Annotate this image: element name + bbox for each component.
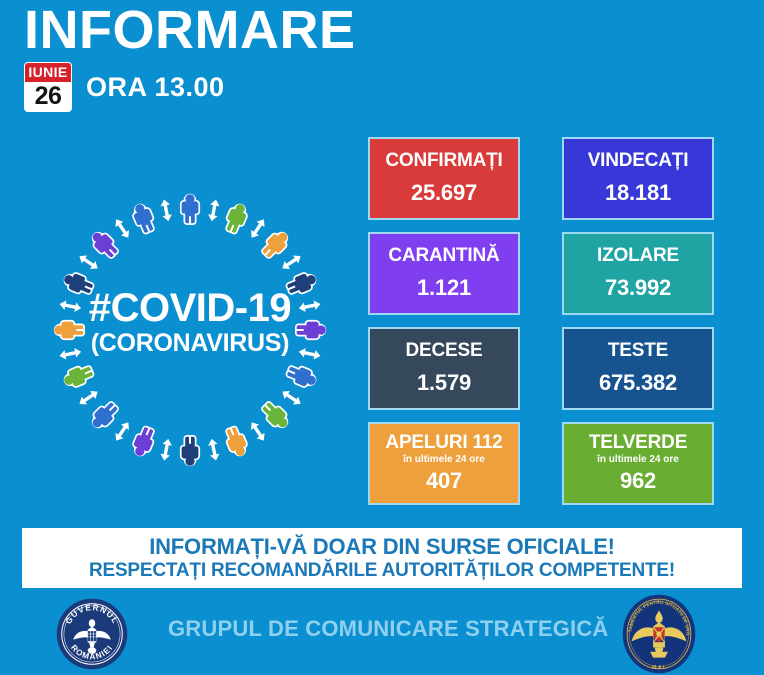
footer: GUVERNUL ROMÂNIEI DEPARTAMENTUL PENTRU S… xyxy=(0,592,764,675)
banner-line-2: RESPECTAȚI RECOMANDĂRILE AUTORITĂȚILOR C… xyxy=(89,560,675,582)
people-circle-svg xyxy=(20,160,360,500)
double-arrow-icon xyxy=(298,347,321,361)
person-icon xyxy=(260,400,292,432)
stat-card-carantina: CARANTINĂ1.121 xyxy=(368,232,520,315)
header: INFORMARE IUNIE 26 ORA 13.00 xyxy=(0,0,764,130)
stats-grid: CONFIRMAȚI25.697VINDECAȚI18.181CARANTINĂ… xyxy=(368,137,714,505)
stat-value: 675.382 xyxy=(599,370,677,396)
stat-sublabel: în ultimele 24 ore xyxy=(597,454,679,466)
stat-value: 407 xyxy=(426,468,462,494)
stat-card-confirmati: CONFIRMAȚI25.697 xyxy=(368,137,520,220)
official-sources-banner: INFORMAȚI-VĂ DOAR DIN SURSE OFICIALE! RE… xyxy=(22,528,742,588)
stat-card-decese: DECESE1.579 xyxy=(368,327,520,410)
person-icon xyxy=(88,228,120,260)
double-arrow-icon xyxy=(112,217,132,241)
seal-right-bottom-text: M.A.I. xyxy=(652,665,666,671)
stat-card-izolare: IZOLARE73.992 xyxy=(562,232,714,315)
stat-label: IZOLARE xyxy=(597,245,679,266)
double-arrow-icon xyxy=(280,388,304,408)
person-icon xyxy=(285,363,318,390)
double-arrow-icon xyxy=(207,438,221,461)
stat-card-vindecati: VINDECAȚI18.181 xyxy=(562,137,714,220)
person-icon xyxy=(285,270,318,297)
double-arrow-icon xyxy=(59,299,82,313)
double-arrow-icon xyxy=(280,252,304,272)
person-icon xyxy=(130,201,157,234)
person-icon xyxy=(223,201,250,234)
stat-card-apeluri-112: APELURI 112în ultimele 24 ore407 xyxy=(368,422,520,505)
stat-label: APELURI 112 xyxy=(385,432,502,453)
stat-value: 18.181 xyxy=(605,180,671,206)
double-arrow-icon xyxy=(298,299,321,313)
date-row: IUNIE 26 ORA 13.00 xyxy=(24,62,225,112)
double-arrow-icon xyxy=(59,347,82,361)
stat-card-teste: TESTE675.382 xyxy=(562,327,714,410)
guvernul-romaniei-seal-icon: GUVERNUL ROMÂNIEI xyxy=(56,598,128,670)
stat-value: 1.579 xyxy=(417,370,471,396)
stat-value: 1.121 xyxy=(417,275,471,301)
stat-value: 962 xyxy=(620,468,656,494)
double-arrow-icon xyxy=(112,420,132,444)
double-arrow-icon xyxy=(248,217,268,241)
stat-label: VINDECAȚI xyxy=(588,150,689,171)
double-arrow-icon xyxy=(77,252,101,272)
stat-label: CONFIRMAȚI xyxy=(385,150,502,171)
double-arrow-icon xyxy=(207,199,221,222)
stat-value: 25.697 xyxy=(411,180,477,206)
person-icon xyxy=(130,425,157,458)
footer-organization-label: GRUPUL DE COMUNICARE STRATEGICĂ xyxy=(168,616,609,642)
stat-value: 73.992 xyxy=(605,275,671,301)
people-circle-icon: #COVID-19 (CORONAVIRUS) xyxy=(20,160,360,500)
stat-card-telverde: TELVERDEîn ultimele 24 ore962 xyxy=(562,422,714,505)
person-icon xyxy=(61,363,94,390)
calendar-month-label: IUNIE xyxy=(25,63,71,82)
calendar-icon: IUNIE 26 xyxy=(24,62,72,112)
stat-label: CARANTINĂ xyxy=(388,245,499,266)
departamentul-situatii-urgenta-seal-icon: DEPARTAMENTUL PENTRU SITUAȚII DE URGENȚĂ… xyxy=(622,594,696,674)
person-icon xyxy=(223,425,250,458)
hour-label: ORA 13.00 xyxy=(86,72,225,103)
double-arrow-icon xyxy=(159,438,173,461)
calendar-day-label: 26 xyxy=(25,82,71,111)
page-title: INFORMARE xyxy=(24,2,355,59)
person-icon xyxy=(61,270,94,297)
stat-label: TELVERDE xyxy=(589,432,687,453)
person-icon xyxy=(182,437,199,466)
person-icon xyxy=(54,322,83,339)
person-icon xyxy=(297,322,326,339)
stat-label: DECESE xyxy=(406,340,483,361)
double-arrow-icon xyxy=(77,388,101,408)
stat-sublabel: în ultimele 24 ore xyxy=(403,454,485,466)
person-icon xyxy=(260,228,292,260)
person-icon xyxy=(88,400,120,432)
banner-line-1: INFORMAȚI-VĂ DOAR DIN SURSE OFICIALE! xyxy=(149,534,615,560)
stat-label: TESTE xyxy=(608,340,668,361)
person-icon xyxy=(182,194,199,223)
double-arrow-icon xyxy=(159,199,173,222)
double-arrow-icon xyxy=(248,420,268,444)
